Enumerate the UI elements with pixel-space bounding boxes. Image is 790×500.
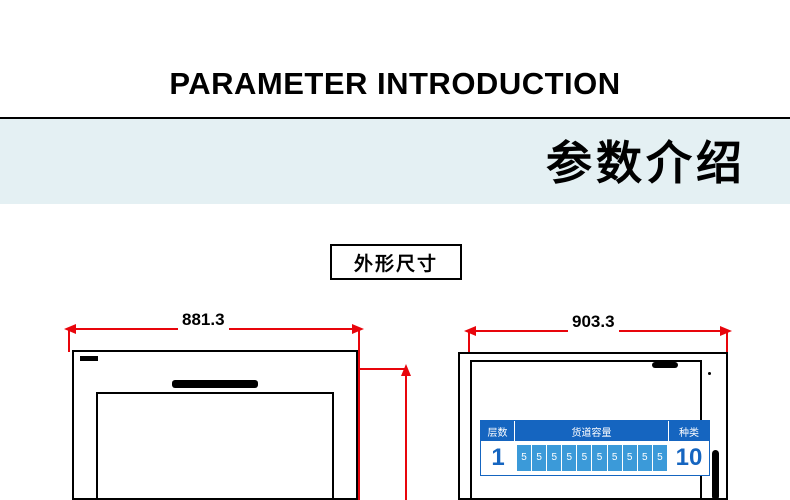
page-title-chinese: 参数介绍 xyxy=(546,127,746,193)
spec-channel-cell: 5 xyxy=(517,445,531,471)
spec-channel-cell: 5 xyxy=(638,445,652,471)
spec-header-layers: 层数 xyxy=(481,421,515,441)
spec-table-header-row: 层数 货道容量 种类 xyxy=(481,421,709,441)
spec-channel-cell: 5 xyxy=(592,445,606,471)
left-cabinet-top-detail xyxy=(80,356,98,361)
spec-channel-cell: 5 xyxy=(608,445,622,471)
left-extension-line-end xyxy=(358,328,360,500)
left-dimension-value: 881.3 xyxy=(178,310,229,330)
spec-layer-number: 1 xyxy=(481,441,515,475)
right-extension-line-start xyxy=(468,330,470,352)
left-vertical-dimension-line xyxy=(405,368,407,500)
spec-channel-cell: 5 xyxy=(532,445,546,471)
spec-channel-cell: 5 xyxy=(653,445,667,471)
spec-channel-cells: 5 5 5 5 5 5 5 5 5 5 xyxy=(515,441,669,475)
left-product-drawing: 881.3 xyxy=(60,300,420,500)
spec-header-capacity: 货道容量 xyxy=(515,421,669,441)
right-cabinet-lock-dot xyxy=(708,372,711,375)
spec-channel-cell: 5 xyxy=(547,445,561,471)
left-cabinet-handle xyxy=(172,380,258,388)
left-extension-line-start xyxy=(68,328,70,352)
left-vertical-extension-line xyxy=(358,368,406,370)
spec-channel-cell: 5 xyxy=(623,445,637,471)
spec-table: 层数 货道容量 种类 1 5 5 5 5 5 5 5 5 5 5 10 xyxy=(480,420,710,476)
left-cabinet-door-panel xyxy=(96,392,334,500)
right-dimension-value: 903.3 xyxy=(568,312,619,332)
spec-table-body-row: 1 5 5 5 5 5 5 5 5 5 5 10 xyxy=(481,441,709,475)
right-extension-line-end xyxy=(726,330,728,352)
section-label-dimensions: 外形尺寸 xyxy=(330,244,462,280)
page-root: PARAMETER INTRODUCTION 参数介绍 外形尺寸 881.3 xyxy=(0,0,790,500)
page-title-english: PARAMETER INTRODUCTION xyxy=(0,66,790,102)
right-product-drawing: 903.3 层数 货道容量 种类 1 5 5 5 5 5 5 xyxy=(440,300,770,500)
right-cabinet-handle xyxy=(712,450,719,500)
left-vertical-dimension-arrow xyxy=(399,364,413,380)
spec-channel-cell: 5 xyxy=(577,445,591,471)
spec-channel-cell: 5 xyxy=(562,445,576,471)
spec-header-type: 种类 xyxy=(669,421,709,441)
right-cabinet-top-detail xyxy=(652,362,678,368)
spec-type-total: 10 xyxy=(669,441,709,475)
